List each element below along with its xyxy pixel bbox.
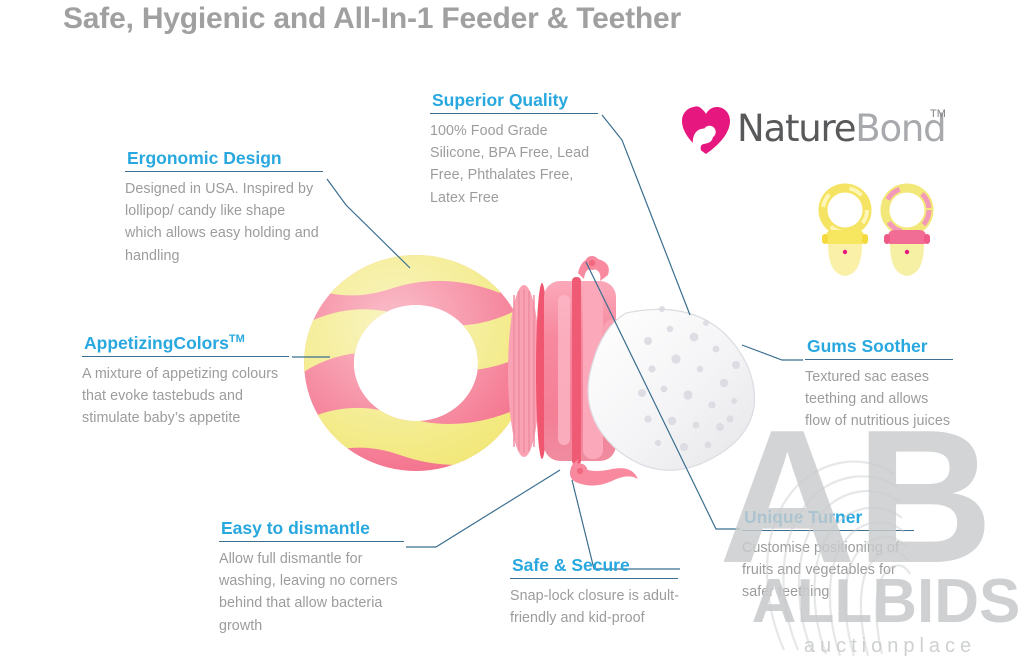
trademark-mark: TM [229,333,245,345]
feature-underline [742,530,914,531]
feature-underline [82,356,289,357]
feature-heading: Superior Quality [430,90,602,110]
feature-underline [125,171,323,172]
product-collar [508,283,548,459]
feature-body: Snap-lock closure is adult-friendly and … [510,585,688,629]
feature-safe-and-secure: Safe & Secure Snap-lock closure is adult… [510,555,688,629]
feature-body: Designed in USA. Inspired by lollipop/ c… [125,178,325,267]
feature-heading: Safe & Secure [510,555,688,575]
feature-underline [510,578,678,579]
feature-underline [219,541,404,542]
feature-heading: Ergonomic Design [125,148,325,168]
feature-gums-soother: Gums Soother Textured sac eases teething… [805,336,955,433]
brand-trademark: TM [930,108,946,120]
feature-body: A mixture of appetizing colours that evo… [82,363,294,429]
page-title: Safe, Hygienic and All-In-1 Feeder & Tee… [63,2,681,36]
product-photo-main [296,243,796,508]
feature-body: Customise positioning of fruits and vege… [742,537,917,603]
product-sac [588,306,754,470]
feature-heading: AppetizingColorsTM [82,333,294,353]
feature-easy-to-dismantle: Easy to dismantle Allow full dismantle f… [219,518,409,637]
brand-name-nature: Nature [737,107,855,150]
feature-underline [805,359,953,360]
product-thumbnails [812,182,944,282]
brand-logo: NatureBond TM [681,104,943,160]
product-ring [296,247,536,471]
feature-appetizing-colors: AppetizingColorsTM A mixture of appetizi… [82,333,294,430]
product-thumb-pink [884,188,930,276]
heart-mother-baby-icon [681,104,731,156]
feature-ergonomic-design: Ergonomic Design Designed in USA. Inspir… [125,148,325,267]
feature-superior-quality: Superior Quality 100% Food Grade Silicon… [430,90,602,209]
feature-heading: Gums Soother [805,336,955,356]
feature-body: Allow full dismantle for washing, leavin… [219,548,409,637]
infographic-page: Safe, Hygienic and All-In-1 Feeder & Tee… [0,0,1024,660]
feature-body: 100% Food Grade Silicone, BPA Free, Lead… [430,120,602,209]
product-thumb-yellow [822,188,868,276]
feature-heading: Unique Turner [742,507,917,527]
feature-unique-turner: Unique Turner Customise positioning of f… [742,507,917,604]
feature-body: Textured sac eases teething and allows f… [805,366,955,432]
feature-heading-text: AppetizingColors [84,333,229,353]
brand-wordmark: NatureBond [737,106,945,152]
feature-underline [430,113,598,114]
watermark-tagline: auctionplace [804,635,976,657]
feature-heading: Easy to dismantle [219,518,409,538]
